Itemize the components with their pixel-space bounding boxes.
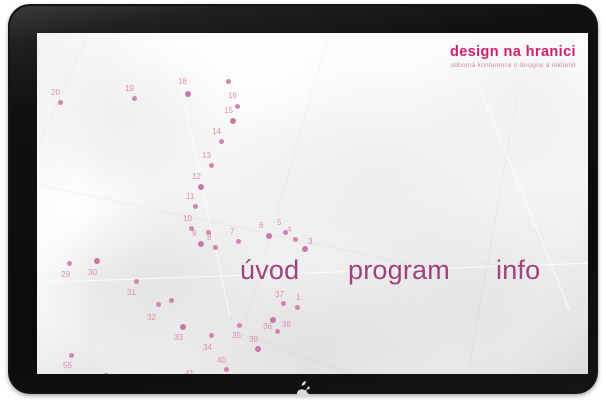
constellation-dot <box>281 301 286 306</box>
constellation-dot <box>132 96 137 101</box>
constellation-dot <box>134 279 139 284</box>
constellation-dot-number: 9 <box>192 230 196 238</box>
constellation-dot <box>198 241 204 247</box>
constellation-dot-number: 41 <box>185 370 194 374</box>
constellation-dot-number: 34 <box>203 344 212 352</box>
constellation-dot-number: 37 <box>275 291 284 299</box>
site-header: design na hranici odborná konference o d… <box>450 45 576 69</box>
nav-item-uvod[interactable]: úvod <box>240 251 299 289</box>
constellation-dot <box>156 302 161 307</box>
constellation-dot-number: 5 <box>277 219 281 227</box>
constellation-dot <box>198 184 204 190</box>
constellation-dot <box>230 118 236 124</box>
constellation-dot-number: 10 <box>183 215 192 223</box>
constellation-dot <box>235 104 240 109</box>
constellation-dot <box>193 204 198 209</box>
constellation-dot <box>293 237 298 242</box>
constellation-dot <box>69 353 74 358</box>
constellation-dot <box>94 258 100 264</box>
constellation-dot-number: 40 <box>217 357 226 365</box>
constellation-dot <box>224 367 229 372</box>
constellation-dot <box>295 305 300 310</box>
constellation-dot-number: 16 <box>228 92 237 100</box>
constellation-dot-number: 3 <box>308 238 312 246</box>
constellation-dot <box>275 329 280 334</box>
site-tagline: odborná konference o designu a reklamě <box>450 62 576 69</box>
constellation-dot <box>266 233 272 239</box>
constellation-dot <box>236 239 241 244</box>
constellation-dot-number: 8 <box>207 234 211 242</box>
constellation-dot-number: 35 <box>232 332 241 340</box>
constellation-dot <box>209 163 214 168</box>
constellation-dot-number: 18 <box>178 78 187 86</box>
constellation-dot <box>219 139 224 144</box>
constellation-dot <box>103 373 109 374</box>
constellation-dot-number: 13 <box>202 152 211 160</box>
constellation-dot-number: 33 <box>174 334 183 342</box>
constellation-dot-number: 55 <box>63 362 72 370</box>
constellation-dot-number: 39 <box>249 336 258 344</box>
imac-display-device: design na hranici odborná konference o d… <box>8 4 598 394</box>
constellation-dot-number: 20 <box>51 89 60 97</box>
display-bezel: design na hranici odborná konference o d… <box>10 6 596 392</box>
constellation-dot-number: 30 <box>88 269 97 277</box>
constellation-dot <box>237 323 242 328</box>
constellation-dot <box>185 91 191 97</box>
constellation-dot-number: 11 <box>186 193 194 201</box>
nav-item-info[interactable]: info <box>496 251 540 289</box>
constellation-dot-number: 19 <box>125 85 134 93</box>
main-navigation: úvodprograminfo <box>212 251 582 291</box>
constellation-dot <box>226 79 231 84</box>
constellation-dot-number: 7 <box>230 228 234 236</box>
page-title: design na hranici <box>450 45 576 60</box>
constellation-dot-number: 14 <box>212 128 221 136</box>
constellation-dot <box>67 261 72 266</box>
constellation-dot-number: 31 <box>127 289 136 297</box>
constellation-dot <box>180 324 186 330</box>
constellation-dot-number: 36 <box>263 323 272 331</box>
constellation-dot <box>209 333 214 338</box>
constellation-dot <box>213 245 218 250</box>
constellation-dot-number: 12 <box>192 173 201 181</box>
constellation-dot-number: 6 <box>259 222 263 230</box>
screen-viewport: design na hranici odborná konference o d… <box>37 33 588 374</box>
constellation-dot <box>206 230 211 235</box>
apple-logo-icon <box>297 381 310 396</box>
constellation-dot-number: 4 <box>287 226 291 234</box>
constellation-dot-number: 15 <box>224 107 233 115</box>
constellation-dot-number: 38 <box>282 321 291 329</box>
constellation-dot-number: 29 <box>61 271 70 279</box>
screenshot-root: design na hranici odborná konference o d… <box>0 0 606 406</box>
constellation-dot <box>255 346 261 352</box>
constellation-dot-number: 1 <box>296 294 300 302</box>
constellation-dot <box>169 298 174 303</box>
constellation-dot <box>58 100 63 105</box>
constellation-dot-number: 32 <box>147 314 156 322</box>
nav-item-program[interactable]: program <box>348 251 450 289</box>
